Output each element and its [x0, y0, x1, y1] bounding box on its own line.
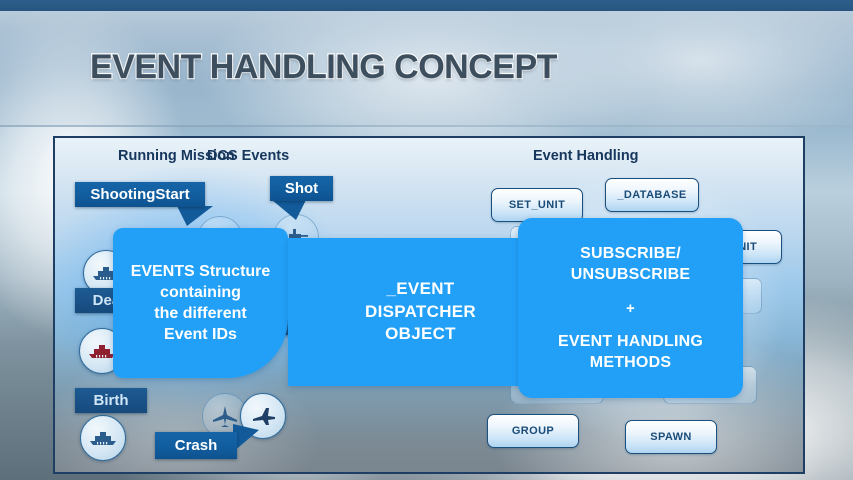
callout-lines: _EVENTDISPATCHEROBJECT — [357, 278, 484, 345]
callout-lines: EVENTS Structurecontainingthe differentE… — [123, 261, 279, 345]
callout-line: DISPATCHER — [365, 301, 476, 323]
slide-root: EVENT HANDLING CONCEPT Running MissionDC… — [0, 0, 853, 480]
bubble-tail — [272, 200, 306, 220]
bubble-crash[interactable]: Crash — [155, 432, 237, 459]
event-bubble-label: ShootingStart — [90, 186, 189, 203]
class-box-set-unit[interactable]: SET_UNIT — [491, 188, 583, 222]
class-box-group[interactable]: GROUP — [487, 414, 579, 448]
callout-lines: SUBSCRIBE/UNSUBSCRIBE+EVENT HANDLINGMETH… — [550, 243, 711, 373]
section-header-event-handling: Event Handling — [533, 148, 639, 164]
callout-line: the different — [131, 303, 271, 324]
top-accent-band — [0, 0, 853, 11]
callout-line: SUBSCRIBE/ — [558, 243, 703, 264]
callout-line: UNSUBSCRIBE — [558, 264, 703, 285]
bubble-tail — [177, 206, 213, 226]
bubble-birth[interactable]: Birth — [75, 388, 147, 413]
callout-line: _EVENT — [365, 278, 476, 300]
unit-icon-ship-3 — [80, 415, 126, 461]
class-box-database[interactable]: _DATABASE — [605, 178, 699, 212]
callout-event-dispatcher: _EVENTDISPATCHEROBJECT — [288, 238, 553, 386]
callout-line: EVENT HANDLING — [558, 331, 703, 352]
callout-line: EVENTS Structure — [131, 261, 271, 282]
callout-event-handling-methods: SUBSCRIBE/UNSUBSCRIBE+EVENT HANDLINGMETH… — [518, 218, 743, 398]
event-bubble-label: Birth — [94, 392, 129, 409]
bubble-shootingstart[interactable]: ShootingStart — [75, 182, 205, 207]
callout-line: Event IDs — [131, 324, 271, 345]
section-header-dcs-events: DCS Events — [207, 148, 289, 164]
callout-line: containing — [131, 282, 271, 303]
callout-events-structure: EVENTS Structurecontainingthe differentE… — [113, 228, 288, 378]
class-box-spawn[interactable]: SPAWN — [625, 420, 717, 454]
event-bubble-label: Crash — [175, 437, 218, 454]
bubble-shot[interactable]: Shot — [270, 176, 333, 201]
content-panel: Running MissionDCS EventsEvent Handling … — [53, 136, 805, 474]
page-title: EVENT HANDLING CONCEPT — [90, 48, 557, 87]
event-bubble-label: Shot — [285, 180, 318, 197]
callout-plus: + — [558, 299, 703, 319]
header-divider — [0, 125, 853, 127]
callout-line: METHODS — [558, 352, 703, 373]
callout-line: OBJECT — [365, 323, 476, 345]
